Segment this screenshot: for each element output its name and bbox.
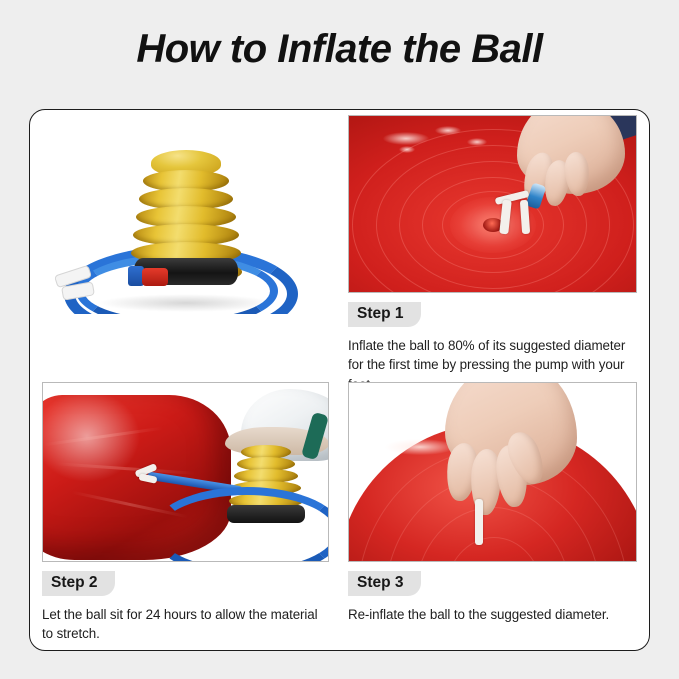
step-description: Let the ball sit for 24 hours to allow t… <box>42 605 322 644</box>
panel-pump-overview <box>42 118 330 380</box>
step-badge: Step 3 <box>348 571 421 596</box>
ball-crease <box>43 427 162 447</box>
ball-highlight <box>383 132 429 145</box>
pump-scene <box>42 118 330 314</box>
ball-highlight <box>385 439 455 455</box>
page-title: How to Inflate the Ball <box>0 27 679 72</box>
pump-bellows <box>130 150 242 262</box>
photo-foot-pump <box>42 118 330 314</box>
ball-highlight <box>399 146 415 153</box>
ball-highlight <box>467 138 487 146</box>
panel-step-3: Step 3 Re-inflate the ball to the sugges… <box>348 382 640 644</box>
steps-grid: Step 1 Inflate the ball to 80% of its su… <box>30 110 649 650</box>
photo-reinflate-plug <box>348 382 637 562</box>
step-description: Re-inflate the ball to the suggested dia… <box>348 605 628 625</box>
step-badge: Step 2 <box>42 571 115 596</box>
panel-step-2: Step 2 Let the ball sit for 24 hours to … <box>42 382 330 644</box>
infographic-page: How to Inflate the Ball <box>0 0 679 679</box>
step-badge: Step 1 <box>348 302 421 327</box>
steps-card: Step 1 Inflate the ball to 80% of its su… <box>29 109 650 651</box>
ball-crease <box>55 462 195 475</box>
valve-plug <box>475 499 483 545</box>
panel-step-1: Step 1 Inflate the ball to 80% of its su… <box>348 115 640 383</box>
photo-inserting-plug <box>348 115 637 293</box>
pump-valve-red <box>142 268 168 286</box>
ball-highlight <box>435 126 461 135</box>
photo-deflated-ball-pump <box>42 382 329 562</box>
